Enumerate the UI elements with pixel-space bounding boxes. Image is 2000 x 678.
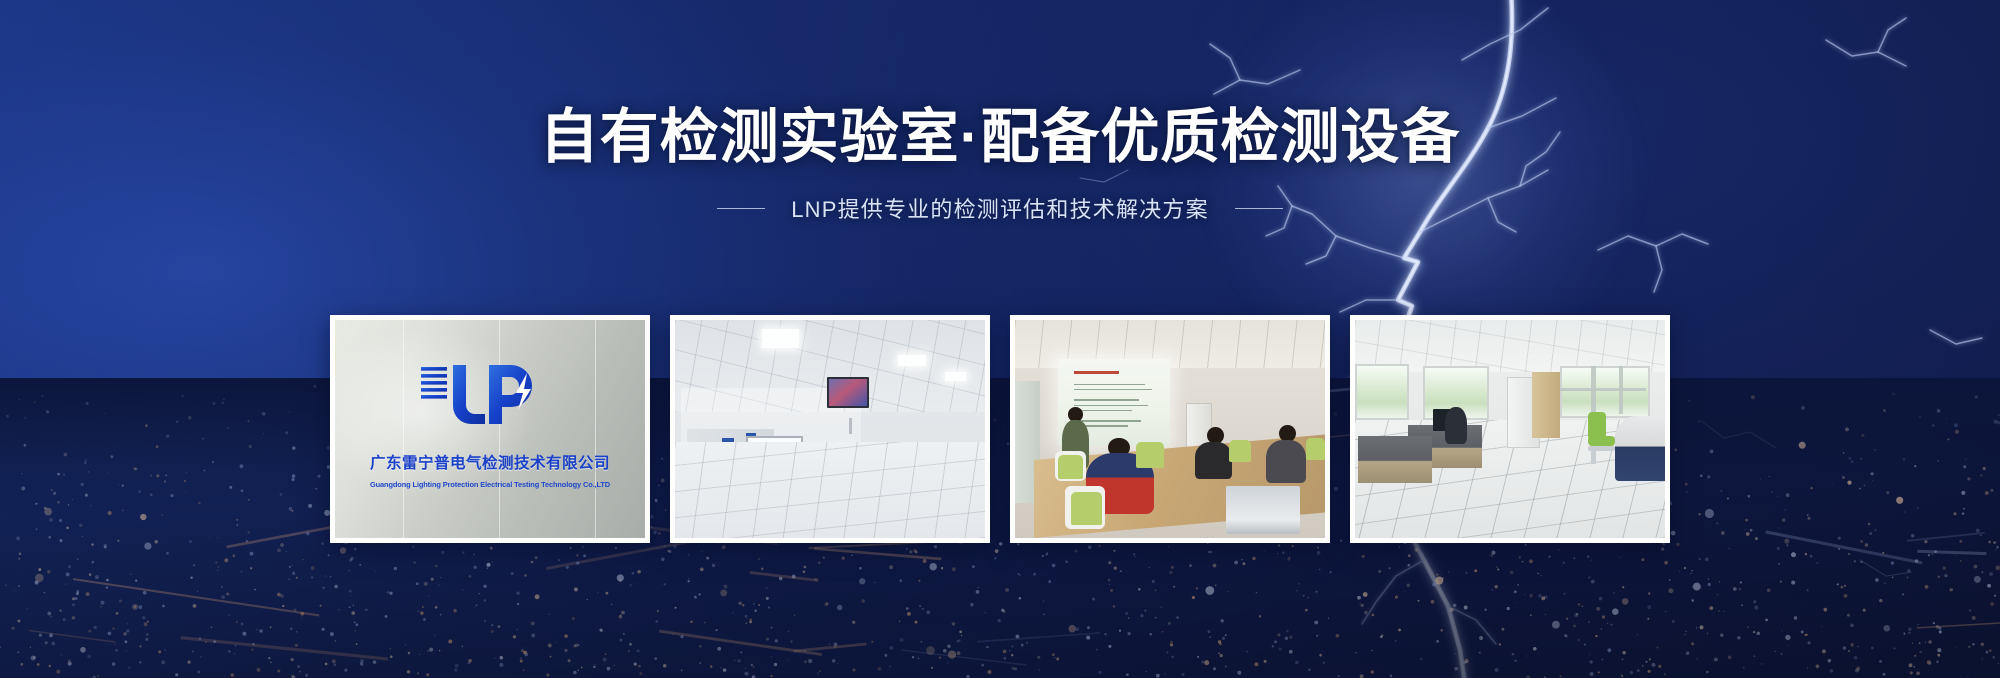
visitor-chair-seat <box>1588 436 1616 447</box>
photo-testing-laboratory <box>675 320 985 538</box>
tv-mount <box>849 418 852 434</box>
slide-text-line <box>1074 384 1145 386</box>
subtitle-row: LNP提供专业的检测评估和技术解决方案 <box>0 192 2000 224</box>
gallery-card-company-signage[interactable]: 广东雷宁普电气检测技术有限公司 Guangdong Lighting Prote… <box>330 315 650 543</box>
gallery-card-training-meeting-room[interactable] <box>1010 315 1330 543</box>
chair-seat <box>1058 455 1083 479</box>
slide-text-line <box>1074 410 1132 412</box>
workstation-desk <box>1358 436 1432 484</box>
slide-heading <box>1074 371 1119 374</box>
seated-employee <box>1445 407 1467 444</box>
photo-gallery: 广东雷宁普电气检测技术有限公司 Guangdong Lighting Prote… <box>0 315 2000 543</box>
laptop <box>1226 486 1300 534</box>
wall-display <box>827 377 869 408</box>
chair-seat <box>1136 442 1164 468</box>
wall-gloss <box>335 320 645 538</box>
attendee-body <box>1266 440 1306 484</box>
slide-text-line <box>1074 405 1148 407</box>
chair-seat <box>1229 440 1251 462</box>
signage-company-name-en: Guangdong Lighting Protection Electrical… <box>370 480 610 489</box>
rule-left-icon <box>717 208 765 209</box>
photo-company-signage: 广东雷宁普电气检测技术有限公司 Guangdong Lighting Prote… <box>335 320 645 538</box>
page-subtitle: LNP提供专业的检测评估和技术解决方案 <box>791 192 1209 224</box>
ceiling-light <box>898 355 926 366</box>
wall-seam <box>403 320 404 538</box>
ceiling-light <box>945 372 967 381</box>
slide-text-line <box>1074 399 1139 401</box>
ceiling-light <box>762 329 799 349</box>
wall-seam <box>499 320 500 538</box>
lnp-logo-icon <box>415 361 565 427</box>
photo-training-meeting-room <box>1015 320 1325 538</box>
hero-banner: 自有检测实验室·配备优质检测设备 LNP提供专业的检测评估和技术解决方案 <box>0 0 2000 678</box>
photo-office-reception-area <box>1355 320 1665 538</box>
chair-seat <box>1071 492 1102 525</box>
reception-counter <box>1615 416 1665 481</box>
page-title: 自有检测实验室·配备优质检测设备 <box>0 104 2000 170</box>
window <box>1355 364 1409 420</box>
chair-seat <box>1306 438 1325 460</box>
signage-company-name-cn: 广东雷宁普电气检测技术有限公司 <box>370 451 610 473</box>
gallery-card-office-reception-area[interactable] <box>1350 315 1670 543</box>
visitor-chair-frame <box>1591 446 1596 463</box>
wooden-shelf <box>1532 372 1560 437</box>
window-mullion <box>1560 388 1647 391</box>
attendee-body <box>1195 442 1232 479</box>
window <box>1560 366 1651 418</box>
wall-seam <box>595 320 596 538</box>
gallery-card-testing-laboratory[interactable] <box>670 315 990 543</box>
slide-text-line <box>1074 389 1152 391</box>
slide-text-line <box>1074 420 1141 422</box>
rule-right-icon <box>1235 208 1283 209</box>
lab-floor <box>675 442 985 538</box>
headline-block: 自有检测实验室·配备优质检测设备 LNP提供专业的检测评估和技术解决方案 <box>0 104 2000 224</box>
